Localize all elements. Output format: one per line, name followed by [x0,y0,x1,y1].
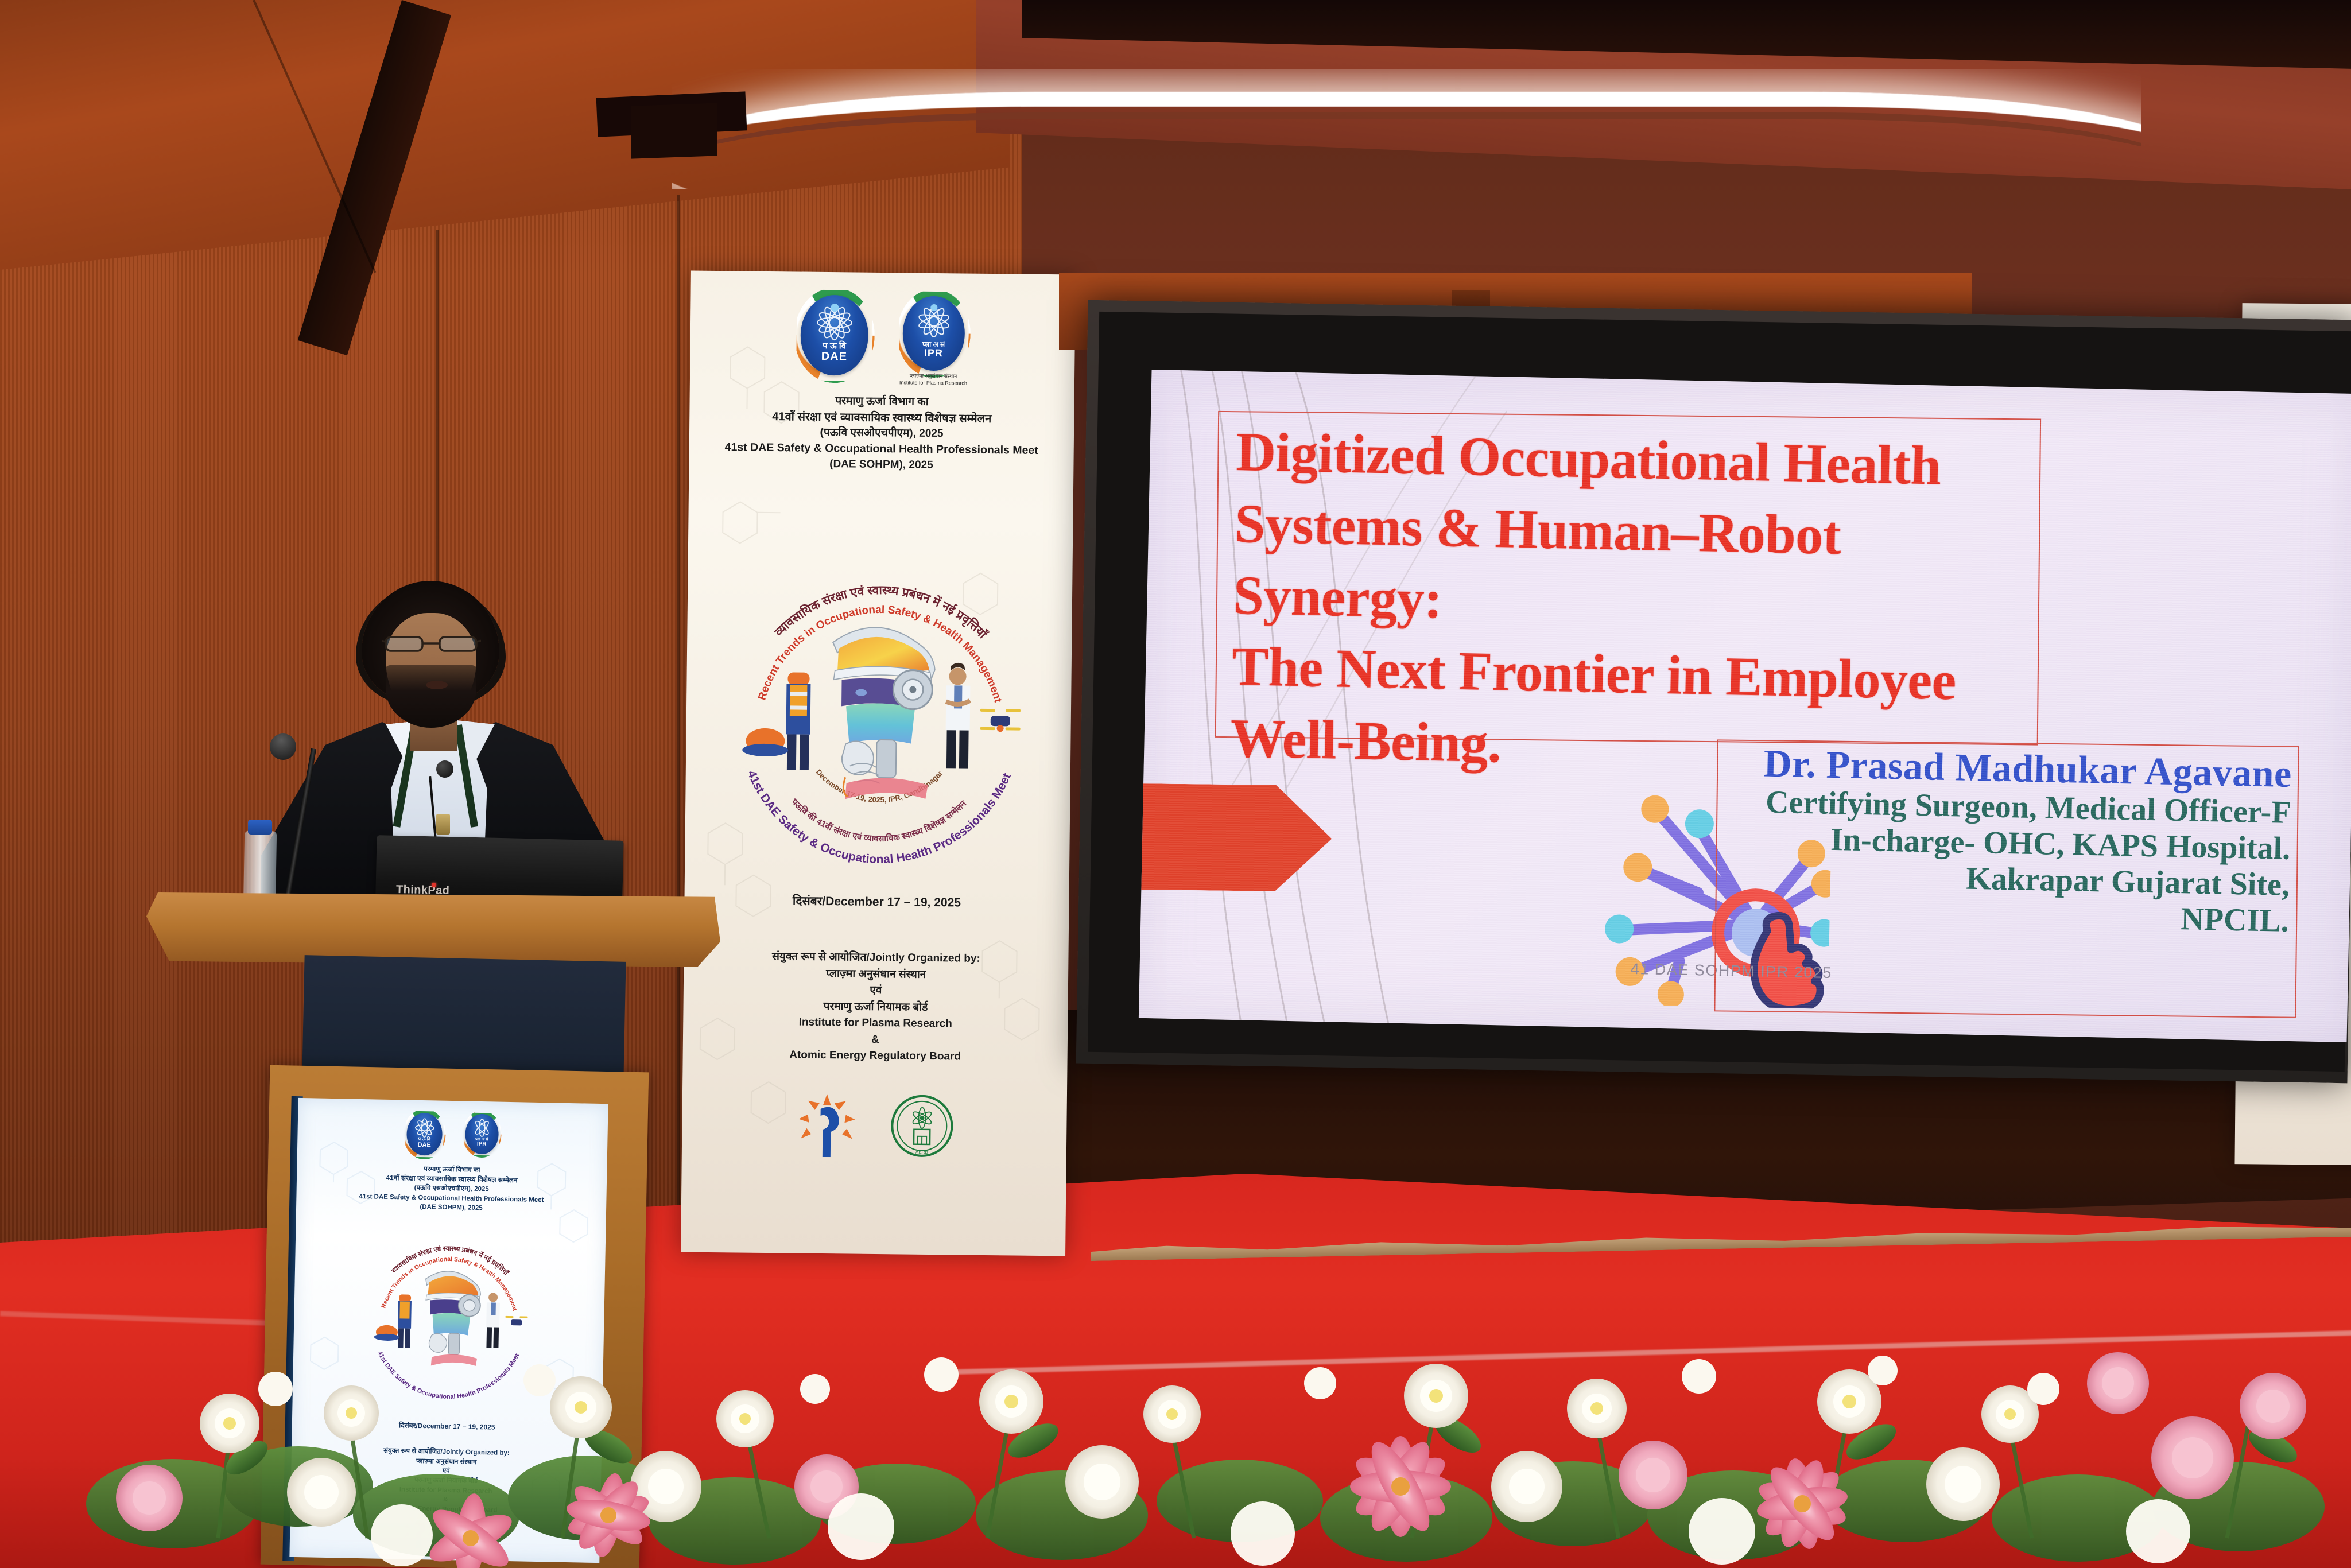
slide-title-line: Systems & Human–Robot Synergy: [1232,488,2050,647]
node-dot [1605,914,1634,944]
ipr-sun-logo [794,1093,858,1158]
ipr-logo-subtitle: प्लाज़्मा अनुसंधान संस्थान Institute for… [893,372,973,387]
presenter-info: Dr. Prasad Madhukar Agavane Certifying S… [1729,742,2292,939]
lectern-emblem: व्यावसायिक संरक्षा एवं स्वास्थ्य प्रबंधन… [356,1222,543,1407]
glasses-icon [382,634,481,653]
banner-organizers: संयुक्त रूप से आयोजित/Jointly Organized … [683,948,1069,1066]
conference-emblem: व्यावसायिक संरक्षा एवं स्वास्थ्य प्रबंधन… [709,541,1051,877]
doctor-icon [945,663,971,769]
doctor-icon [486,1293,500,1348]
lectern-logo-row: प ऊ वि DAE प्ला अ सं [297,1111,608,1159]
ipr-logo-text: प्ला अ सं IPR [902,340,964,359]
hardhat-icon [374,1325,400,1341]
light-housing [631,103,717,158]
aerb-logo [453,1513,490,1549]
banner-org-logo-row: AERB [682,1091,1067,1159]
lectern-poster-panel: प ऊ वि DAE प्ला अ सं [289,1098,608,1563]
lapel-microphone [436,760,453,778]
ipr-atom-icon [902,296,965,371]
safety-worker-icon [786,672,811,770]
ceiling-light-strip [672,69,2141,189]
slide-title: Digitized Occupational Health Systems & … [1229,416,2051,790]
ipr-sun-logo [401,1512,437,1548]
lectern-organizers: संयुक्त रूप से आयोजित/Jointly Organized … [290,1445,602,1517]
banner-logo-row: प ऊ वि DAE [690,294,1075,378]
lectern-top-surface [146,892,720,967]
thinkpad-dot-icon [432,883,436,887]
dae-atom-icon [800,295,868,376]
speaker-mouth [426,681,448,689]
conference-standee-left: प ऊ वि DAE [681,271,1076,1256]
conference-photo-scene: प ऊ वि DAE [0,0,2351,1568]
dae-logo: प ऊ वि DAE [800,295,868,376]
wall-seam [677,195,680,1205]
dae-logo-text: प ऊ वि DAE [800,341,868,363]
dae-logo: प ऊ वि DAE [406,1113,443,1156]
lectern-date: दिसंबर/December 17 – 19, 2025 [292,1418,602,1434]
node-dot [1657,981,1684,1008]
lectern-title-block: परमाणु ऊर्जा विभाग का 41वाँ संरक्षा एवं … [296,1162,607,1216]
ipr-logo: प्ला अ सं IPR [465,1113,499,1154]
aerb-label: AERB [915,1150,928,1155]
presentation-slide: Digitized Occupational Health Systems & … [1139,370,2351,1042]
aerb-logo: AERB [889,1093,954,1158]
organizer-line: Atomic Energy Regulatory Board [683,1046,1068,1066]
red-arrow-pointer [1139,783,1332,892]
water-bottle-cap [248,820,272,835]
node-dot [1685,809,1714,839]
banner-title-block: परमाणु ऊर्जा विभाग का 41वाँ संरक्षा एवं … [689,393,1074,475]
lectern-org-logo-row [290,1510,600,1551]
safety-worker-icon [397,1294,412,1348]
drone-icon [980,709,1021,732]
banner-date: दिसंबर/December 17 – 19, 2025 [684,891,1069,911]
lanyard-badge-clip [436,814,450,835]
drone-icon [505,1316,527,1326]
ipr-logo: प्ला अ सं IPR प्लाज़्मा अनुसंधान संस्थान… [902,296,965,371]
robot-head-icon [424,1271,481,1367]
robot-head-icon [831,627,935,800]
hardhat-icon [742,728,789,757]
